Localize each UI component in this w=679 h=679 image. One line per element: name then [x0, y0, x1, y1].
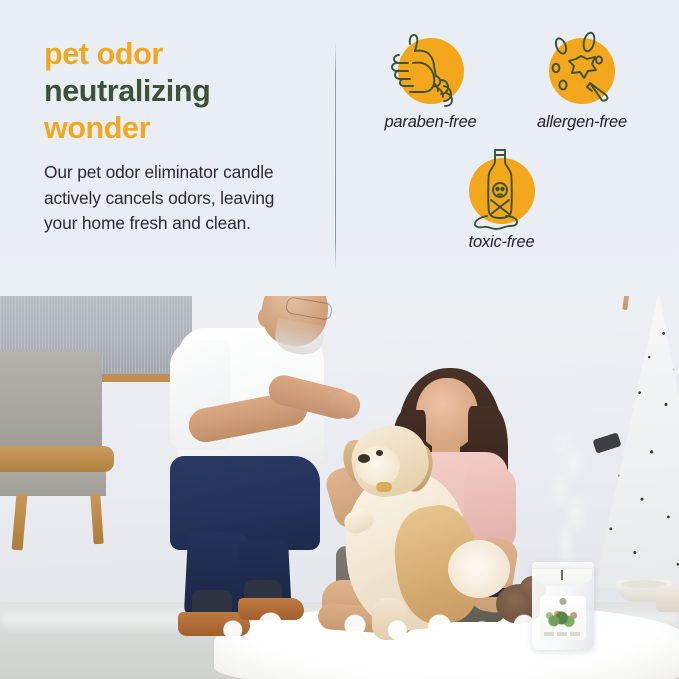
badge-paraben-free: paraben-free	[359, 38, 502, 132]
vertical-divider	[335, 42, 336, 270]
armchair-armrest	[0, 446, 114, 472]
candle-brand-mark	[556, 598, 570, 605]
badge-label: paraben-free	[359, 113, 502, 132]
copy-block: pet odor neutralizing wonder Our pet odo…	[44, 36, 306, 237]
benefit-badges: paraben-free	[352, 30, 664, 288]
body-copy: Our pet odor eliminator candle actively …	[44, 160, 306, 237]
badge-toxic-free: toxic-free	[430, 158, 573, 252]
headline-line-2: neutralizing	[44, 73, 306, 110]
thumbs-up-icon	[386, 28, 476, 114]
rug-fluff	[214, 602, 679, 642]
lifestyle-photo	[0, 250, 679, 679]
badge-allergen-free: allergen-free	[507, 38, 657, 132]
badge-disc	[398, 38, 464, 104]
candle-label-text	[544, 632, 582, 636]
headline-line-1: pet odor	[44, 36, 306, 73]
headline-line-3: wonder	[44, 110, 306, 147]
badge-label: allergen-free	[507, 113, 657, 132]
dog-tail	[448, 540, 510, 598]
dog-collar-tag	[376, 482, 392, 492]
splat-icon	[537, 28, 627, 114]
poison-bottle-icon	[457, 148, 547, 234]
badge-disc	[469, 158, 535, 224]
dog-nose	[358, 454, 370, 463]
info-band: pet odor neutralizing wonder Our pet odo…	[0, 0, 679, 296]
page-title: pet odor neutralizing wonder	[44, 36, 306, 147]
badge-disc	[549, 38, 615, 104]
candle-wick	[561, 570, 563, 580]
badge-label: toxic-free	[430, 233, 573, 252]
candle-jar-rim	[532, 562, 594, 569]
dog-eye	[376, 450, 383, 456]
candle-label-artwork	[544, 606, 582, 630]
marketing-banner: pet odor neutralizing wonder Our pet odo…	[0, 0, 679, 679]
